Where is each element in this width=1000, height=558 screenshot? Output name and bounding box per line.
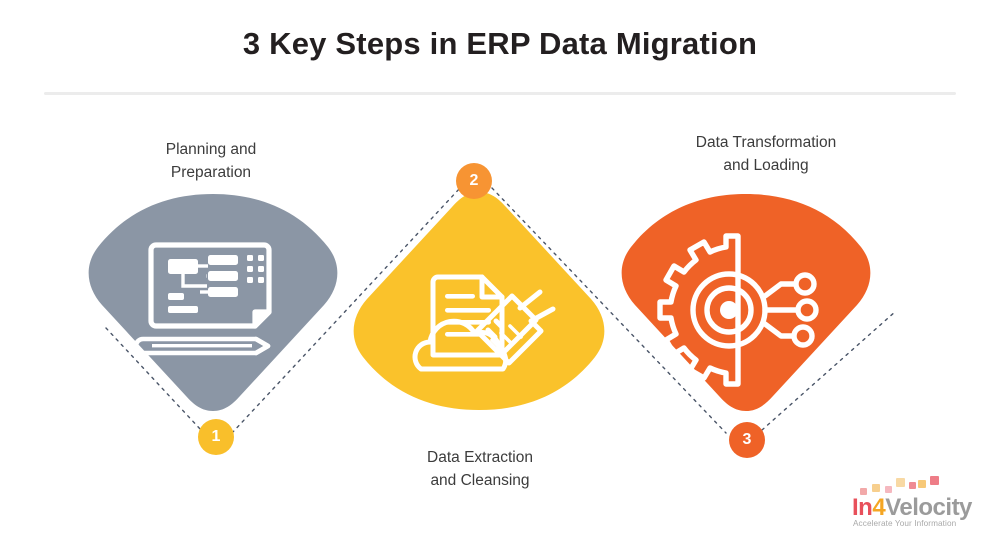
header-divider [44,92,956,95]
step-2-fan-shape [345,190,613,406]
logo-wordmark: In4Velocity [852,494,972,522]
step-2-number-badge[interactable]: 2 [456,163,492,199]
logo-part-in: In [852,494,872,521]
logo-squares-icon [860,476,946,496]
step-1-number-badge[interactable]: 1 [198,419,234,455]
step-3-fan-shape [615,197,877,419]
step-1-number: 1 [212,429,221,445]
step-1-wedge-path [89,194,338,411]
logo-part-velocity: Velocity [885,494,972,521]
infographic-canvas: 3 Key Steps in ERP Data Migration [0,0,1000,558]
step-2-label: Data Extraction and Cleansing [365,446,595,492]
step-3-label: Data Transformation and Loading [636,131,896,177]
logo-part-four: 4 [872,494,885,521]
step-3-number: 3 [743,432,752,448]
pencil-body-line [152,344,252,347]
step-1-fan-shape [82,197,344,419]
step-1-label: Planning and Preparation [96,138,326,184]
brand-logo: In4Velocity Accelerate Your Information [852,476,992,536]
step-3-number-badge[interactable]: 3 [729,422,765,458]
page-title: 3 Key Steps in ERP Data Migration [0,26,1000,62]
step-2-number: 2 [470,173,479,189]
step-2-wedge-path [354,192,605,410]
logo-tagline: Accelerate Your Information [853,519,956,528]
